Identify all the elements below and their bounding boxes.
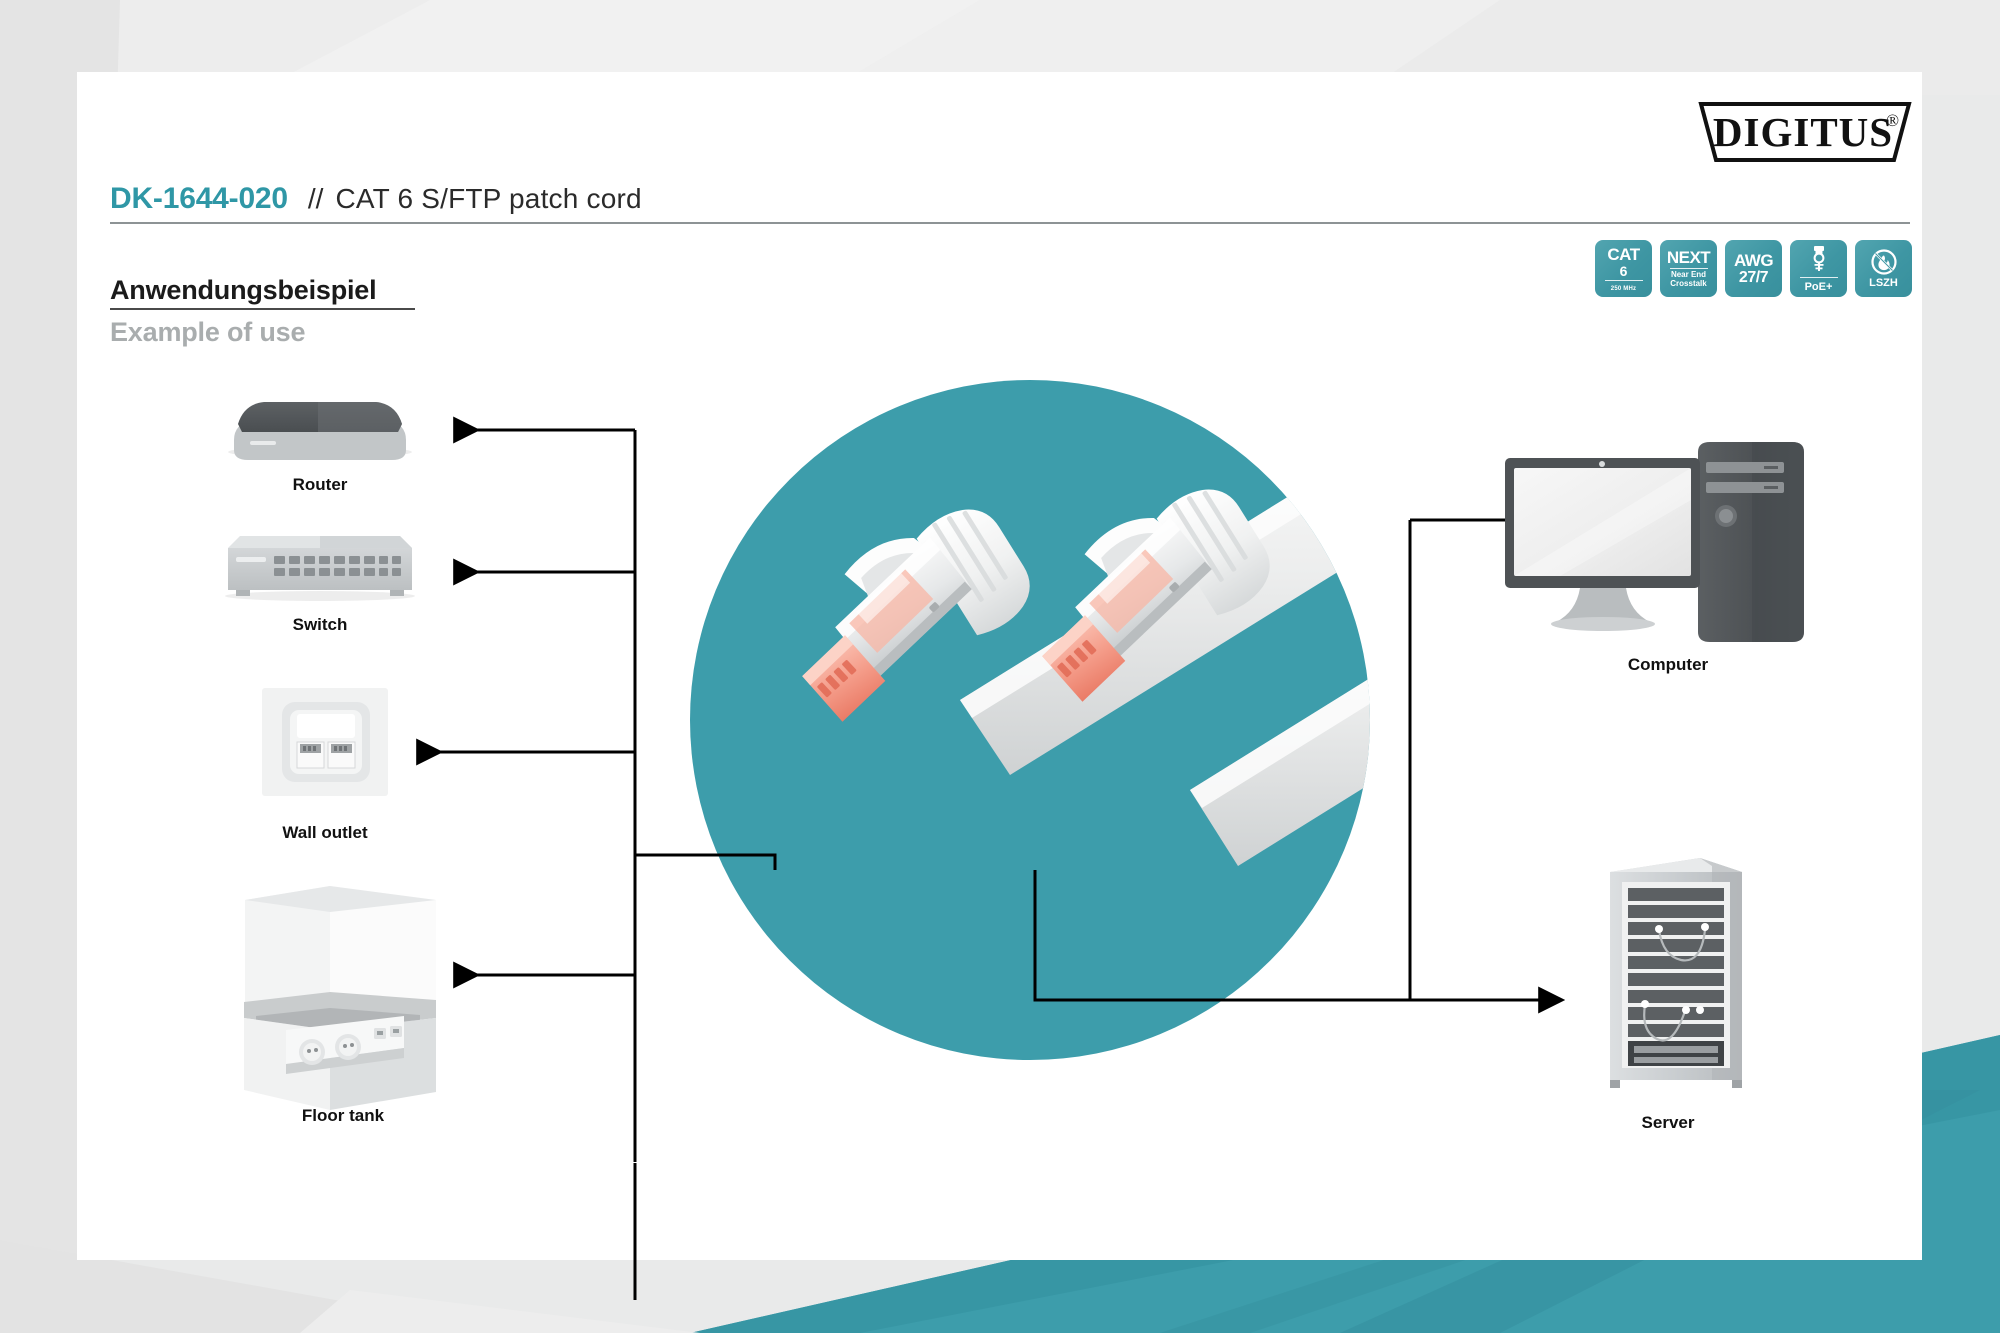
section-title-de: Anwendungsbeispiel [110, 275, 376, 306]
cat6-badge-line3: 250 MHz [1611, 286, 1636, 292]
product-name: CAT 6 S/FTP patch cord [335, 183, 641, 215]
cat6-badge-line1: CAT [1607, 246, 1639, 263]
cat6-badge: CAT 6 250 MHz [1595, 240, 1652, 297]
next-badge-rule [1670, 268, 1708, 269]
product-sku: DK-1644-020 [110, 182, 288, 216]
no-flame-icon [1870, 248, 1898, 276]
digitus-logo: DIGITUS ® [1697, 101, 1913, 163]
cat6-badge-line2: 6 [1620, 264, 1628, 278]
section-title-underline [110, 308, 415, 310]
next-badge-line1: NEXT [1667, 249, 1710, 266]
lszh-badge: LSZH [1855, 240, 1912, 297]
cat6-badge-rule [1605, 280, 1643, 281]
wall-outlet-label: Wall outlet [282, 823, 367, 843]
floor-tank-label: Floor tank [302, 1106, 384, 1126]
server-label: Server [1642, 1113, 1695, 1133]
awg-badge-line1: AWG [1734, 252, 1773, 269]
computer-label: Computer [1628, 655, 1708, 675]
poe-badge: PoE+ [1790, 240, 1847, 297]
registered-mark: ® [1886, 111, 1899, 131]
feature-badges: CAT 6 250 MHz NEXT Near End Crosstalk AW… [1595, 240, 1912, 297]
awg-badge: AWG 27/7 [1725, 240, 1782, 297]
poe-badge-rule [1800, 277, 1838, 278]
section-title-en: Example of use [110, 317, 305, 348]
rj45-plug-icon [1808, 245, 1830, 275]
next-badge-sub2: Crosstalk [1670, 280, 1706, 289]
router-label: Router [293, 475, 348, 495]
lszh-badge-label: LSZH [1869, 278, 1898, 289]
header-separator: // [308, 183, 324, 215]
switch-label: Switch [293, 615, 348, 635]
header-divider [110, 222, 1910, 224]
logo-wordmark: DIGITUS [1697, 101, 1913, 163]
poe-badge-label: PoE+ [1805, 282, 1833, 293]
awg-badge-line2: 27/7 [1739, 270, 1768, 286]
product-header: DK-1644-020 // CAT 6 S/FTP patch cord [110, 182, 642, 216]
next-badge: NEXT Near End Crosstalk [1660, 240, 1717, 297]
